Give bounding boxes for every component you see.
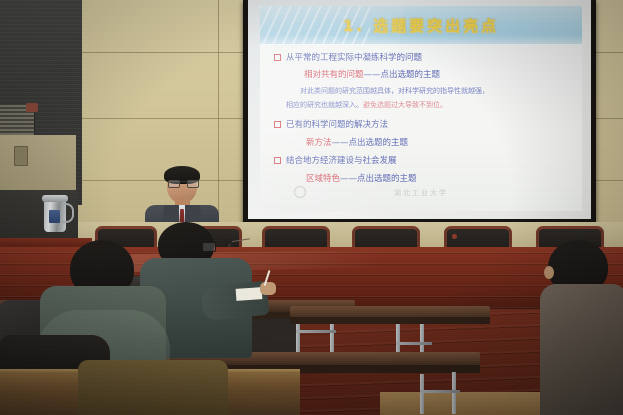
bullet-3-text: 结合地方经济建设与社会发展: [286, 156, 397, 166]
note-1-text: 对此类问题的研究范围越具体，对科学研究的指导性就越强，: [300, 87, 489, 95]
square-bullet-icon: [274, 121, 281, 128]
note-2-red: 避免选题过大导致不到位。: [363, 101, 447, 109]
projection-screen-frame: 1. 选题要突出亮点 从平常的工程实际中凝练科学的问题 相对共有的问题——点出选…: [243, 0, 596, 224]
slide-body: 从平常的工程实际中凝练科学的问题 相对共有的问题——点出选题的主题 对此类问题的…: [260, 44, 582, 211]
subline-1-blue: ——点出选题的主题: [364, 70, 441, 80]
desk-row-edge: [290, 317, 490, 324]
desk-crossbar: [296, 330, 336, 333]
ac-end-cap: [26, 103, 38, 112]
slide-bullet-1: 从平常的工程实际中凝练科学的问题: [274, 51, 422, 63]
subline-2-blue: ——点出选题的主题: [332, 138, 409, 148]
desk-leg: [452, 372, 456, 414]
square-bullet-icon: [274, 54, 281, 61]
audience-hand: [260, 282, 276, 295]
audience-member-bottom-left: [78, 360, 228, 415]
audience-member-right: [540, 240, 623, 415]
conference-room-photo: 1. 选题要突出亮点 从平常的工程实际中凝练科学的问题 相对共有的问题——点出选…: [0, 0, 623, 415]
projection-screen-surface: 1. 选题要突出亮点 从平常的工程实际中凝练科学的问题 相对共有的问题——点出选…: [248, 0, 591, 219]
slide-title: 1. 选题要突出亮点: [260, 15, 582, 36]
note-paper: [236, 287, 263, 301]
glasses-lens-right: [187, 180, 199, 188]
subline-3-red: 区域特色: [306, 174, 340, 184]
slide-note-line-2: 相应的研究也就越深入。避免选题过大导致不到位。: [286, 100, 447, 110]
slide-bullet-2: 已有的科学问题的解决方法: [274, 118, 388, 130]
square-bullet-icon: [274, 157, 281, 164]
note-2-blue: 相应的研究也就越深入。: [286, 101, 363, 109]
presentation-slide: 1. 选题要突出亮点 从平常的工程实际中凝练科学的问题 相对共有的问题——点出选…: [260, 6, 582, 211]
audience-torso: [540, 284, 623, 415]
thermos-label: [49, 210, 60, 223]
wall-socket: [14, 146, 28, 166]
bullet-1-text: 从平常的工程实际中凝练科学的问题: [286, 53, 422, 63]
slide-subline-1: 相对共有的问题——点出选题的主题: [304, 68, 440, 80]
university-seal-icon: [294, 186, 306, 198]
audience-ear: [544, 266, 554, 279]
audience-torso: [78, 360, 228, 415]
subline-3-blue: ——点出选题的主题: [340, 174, 417, 184]
subline-1-red: 相对共有的问题: [304, 70, 364, 80]
slide-subline-2: 新方法——点出选题的主题: [306, 136, 408, 148]
glasses-icon: [202, 242, 216, 252]
thermos-lid: [42, 195, 68, 202]
slide-note-line-1: 对此类问题的研究范围越具体，对科学研究的指导性就越强，: [300, 86, 489, 96]
glasses-lens-left: [168, 180, 180, 188]
desk-crossbar: [396, 342, 432, 345]
chair-stud: [452, 234, 457, 239]
bullet-2-text: 已有的科学问题的解决方法: [286, 120, 388, 130]
slide-watermark: 湖北工业大学: [394, 188, 448, 198]
desk-crossbar: [420, 390, 460, 393]
desk-row: [290, 306, 490, 317]
slide-subline-3: 区域特色——点出选题的主题: [306, 172, 417, 184]
thermos-handle: [62, 203, 74, 223]
slide-bullet-3: 结合地方经济建设与社会发展: [274, 154, 397, 166]
subline-2-red: 新方法: [306, 138, 332, 148]
desk-leg: [420, 374, 424, 414]
